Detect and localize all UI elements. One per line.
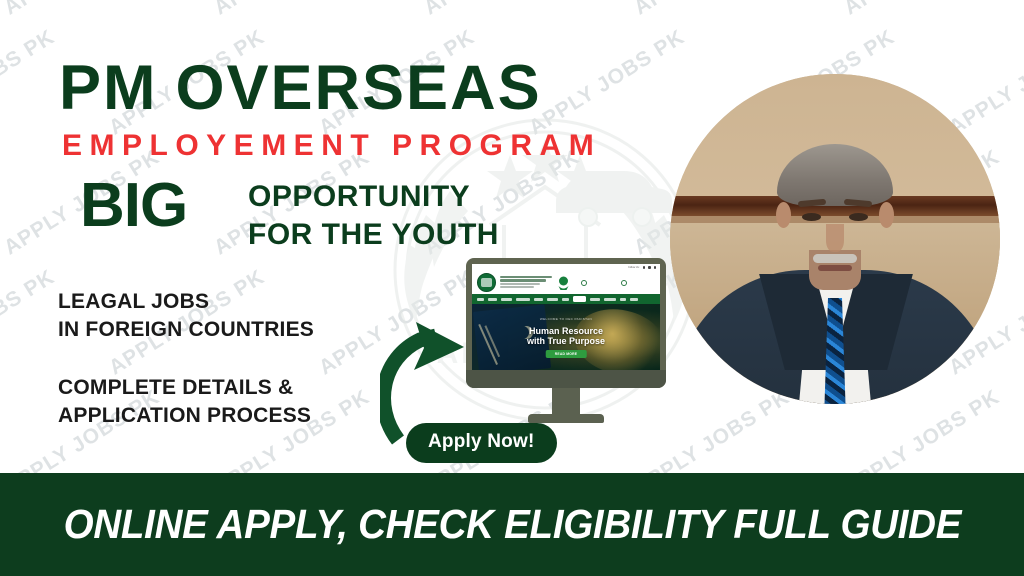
portrait-eye-left	[802, 213, 821, 221]
hero-eyebrow: WELCOME TO OEC PAKISTAN	[472, 317, 660, 321]
portrait-ear-left	[776, 202, 791, 228]
site-nav-item[interactable]	[562, 298, 569, 301]
monitor-bezel: Follow Us:	[466, 258, 666, 388]
hero-title: Human Resource with True Purpose	[472, 326, 660, 347]
hero-title-line-2: with True Purpose	[472, 336, 660, 346]
title-pm: PM	[59, 53, 158, 123]
site-navigation-bar[interactable]	[472, 294, 660, 304]
site-header	[472, 271, 660, 294]
portrait-moustache	[813, 254, 857, 263]
site-nav-item[interactable]	[547, 298, 558, 301]
poster-canvas: APPLY JOBS PKAPPLY JOBS PKAPPLY JOBS PKA…	[0, 0, 1024, 576]
site-nav-item[interactable]	[477, 298, 484, 301]
hero-title-line-1: Human Resource	[472, 326, 660, 336]
opportunity-line-1: OPPORTUNITY	[248, 178, 499, 216]
site-contact-info	[581, 280, 655, 286]
opportunity-text: OPPORTUNITY FOR THE YOUTH	[248, 178, 499, 255]
hero-read-more-button[interactable]: READ MORE	[546, 350, 587, 358]
monitor-stand-neck	[552, 388, 580, 414]
list-spacer	[58, 344, 314, 374]
watermark-text: APPLY JOBS PK	[0, 25, 59, 140]
site-hero-banner: WELCOME TO OEC PAKISTAN Human Resource w…	[472, 304, 660, 374]
benefit-2-line-1: COMPLETE DETAILS &	[58, 374, 314, 402]
benefits-list: LEAGAL JOBS IN FOREIGN COUNTRIES COMPLET…	[58, 288, 314, 430]
benefit-1-line-1: LEAGAL JOBS	[58, 288, 314, 316]
monitor-screen: Follow Us:	[472, 264, 660, 374]
subtitle-employment-program: EMPLOYEMENT PROGRAM	[62, 131, 601, 161]
benefit-2-line-2: APPLICATION PROCESS	[58, 402, 314, 430]
bottom-banner-text: ONLINE APPLY, CHECK ELIGIBILITY FULL GUI…	[63, 501, 961, 548]
site-nav-item-active[interactable]	[573, 296, 586, 302]
facebook-icon[interactable]	[643, 266, 646, 269]
watermark-text: APPLY JOBS PK	[420, 0, 584, 20]
oec-logo-icon[interactable]	[477, 273, 496, 292]
apply-now-button[interactable]: Apply Now!	[406, 423, 557, 463]
bottom-banner: ONLINE APPLY, CHECK ELIGIBILITY FULL GUI…	[0, 473, 1024, 576]
portrait-mouth	[818, 265, 852, 271]
twitter-icon[interactable]	[648, 266, 651, 269]
site-nav-item[interactable]	[534, 298, 543, 301]
watermark-text: APPLY JOBS PK	[210, 0, 374, 20]
opportunity-line-2: FOR THE YOUTH	[248, 216, 499, 254]
portrait-eye-right	[849, 213, 868, 221]
site-nav-item[interactable]	[620, 298, 626, 301]
pakistan-emblem-icon	[556, 274, 571, 291]
big-word: BIG	[80, 175, 187, 237]
monitor-chin	[466, 370, 666, 388]
watermark-text: APPLY JOBS PK	[525, 25, 689, 140]
site-nav-item[interactable]	[488, 298, 497, 301]
site-brand-text	[500, 276, 552, 290]
desktop-monitor-mockup: Follow Us:	[466, 258, 666, 423]
site-nav-item[interactable]	[516, 298, 530, 301]
watermark-text: APPLY JOBS PK	[0, 265, 59, 380]
site-topbar: Follow Us:	[472, 264, 660, 271]
page-title: PMOVERSEAS	[59, 57, 542, 120]
phone-icon	[581, 280, 587, 286]
watermark-text: APPLY JOBS PK	[840, 0, 1004, 20]
monitor-stand-base	[528, 414, 604, 423]
prime-minister-portrait	[670, 74, 1000, 404]
site-nav-item[interactable]	[590, 298, 600, 301]
title-overseas: OVERSEAS	[176, 53, 542, 123]
watermark-text: APPLY JOBS PK	[630, 0, 794, 20]
watermark-text: APPLY JOBS PK	[0, 0, 164, 20]
site-nav-item[interactable]	[501, 298, 512, 301]
site-nav-item[interactable]	[630, 298, 638, 301]
site-nav-item[interactable]	[604, 298, 616, 301]
youtube-icon[interactable]	[654, 266, 657, 269]
clock-icon	[621, 280, 627, 286]
portrait-nose	[826, 224, 844, 252]
benefit-1-line-2: IN FOREIGN COUNTRIES	[58, 316, 314, 344]
portrait-ear-right	[879, 202, 894, 228]
site-topbar-label: Follow Us:	[628, 266, 639, 269]
